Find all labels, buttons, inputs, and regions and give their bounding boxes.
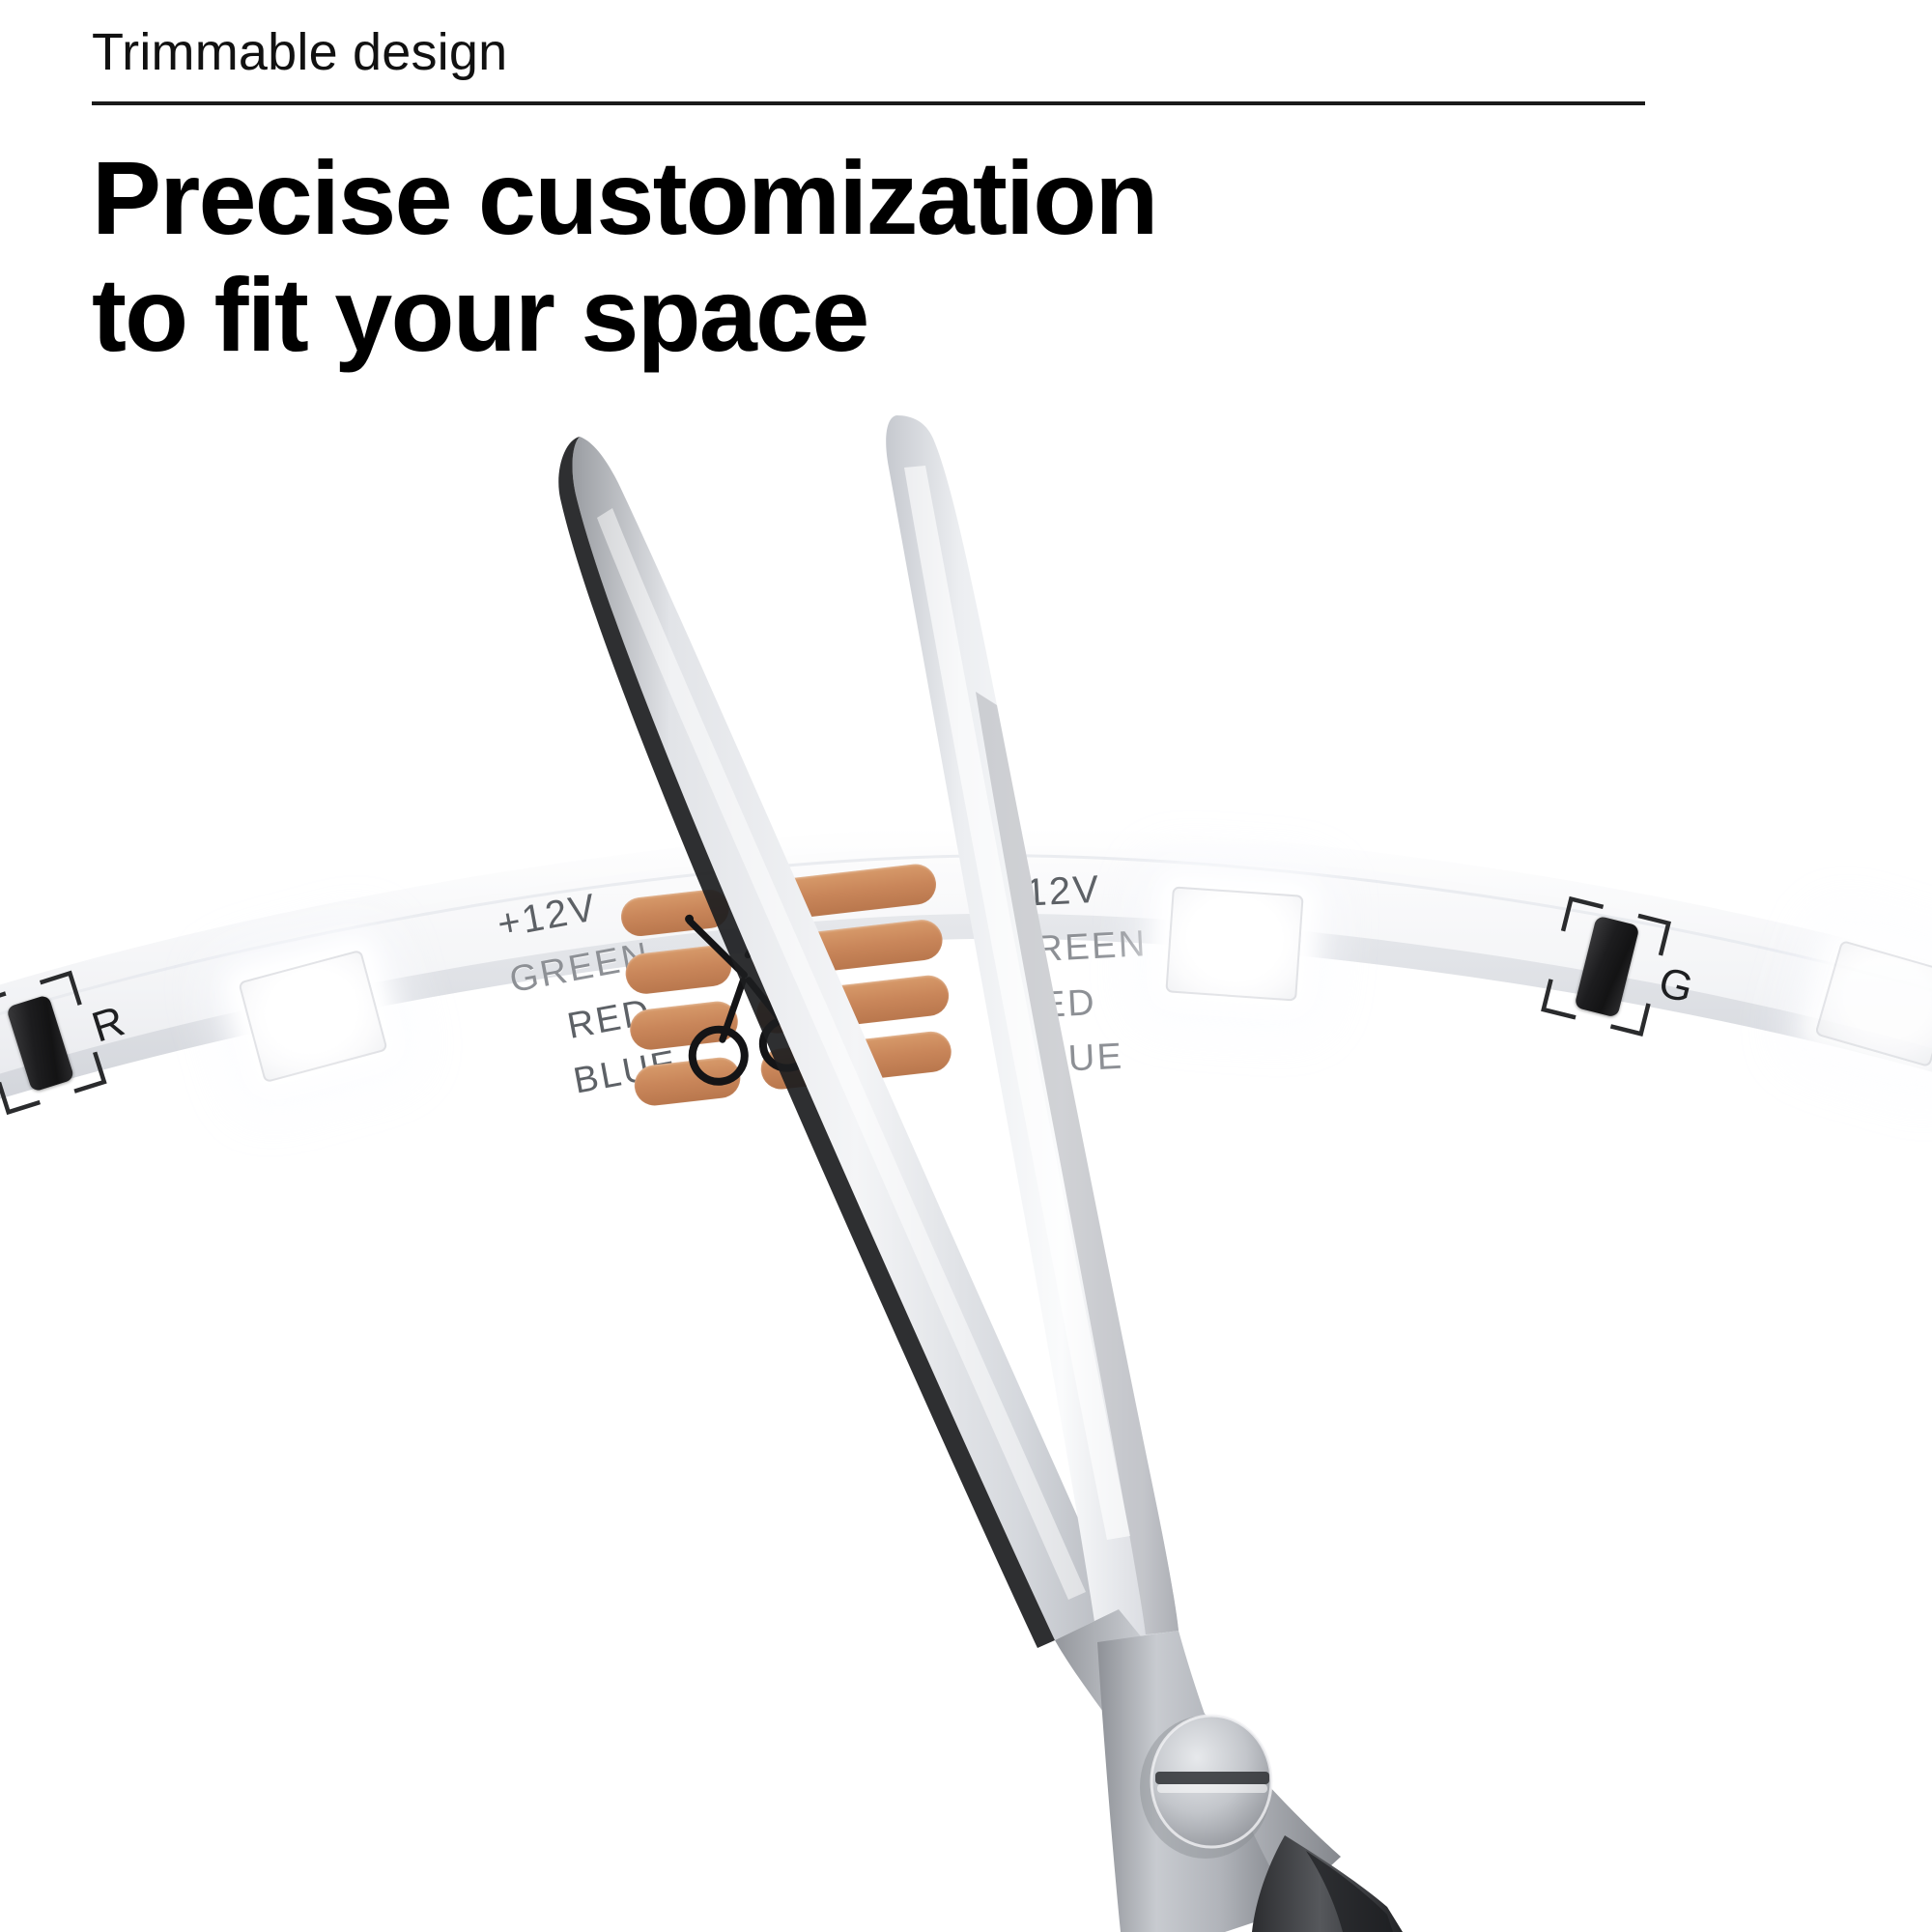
page-title: Precise customization to fit your space (92, 140, 1647, 374)
header: Trimmable design Precise customization t… (92, 25, 1647, 374)
product-feature-card: Trimmable design Precise customization t… (0, 0, 1932, 1932)
eyebrow-label: Trimmable design (92, 25, 1647, 80)
scissors (0, 415, 1932, 1932)
header-divider (92, 101, 1645, 105)
pivot-screw-icon (1140, 1716, 1271, 1859)
product-photo: R +12V GREEN RED BLUE (0, 415, 1932, 1932)
headline-line-1: Precise customization (92, 140, 1647, 257)
headline-line-2: to fit your space (92, 257, 1647, 374)
